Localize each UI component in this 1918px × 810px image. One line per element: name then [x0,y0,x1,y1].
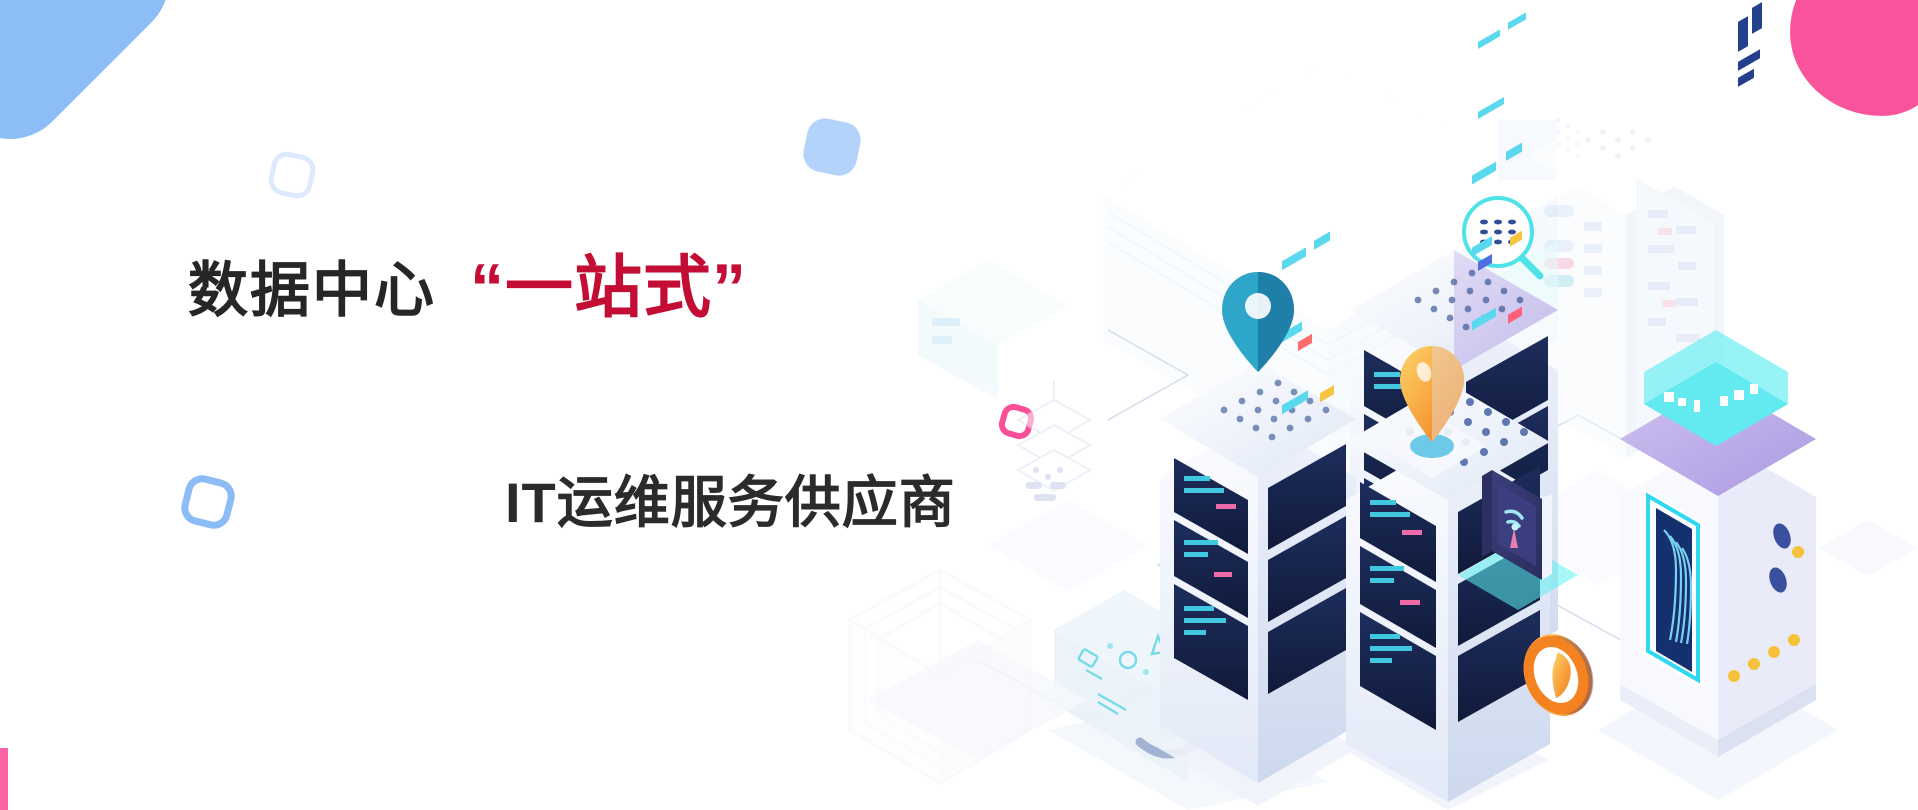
server-rack-front-left [1158,231,1358,806]
bar-bottom-left [0,748,8,810]
headline-accent: “一站式” [470,232,747,331]
server-rack-front-right [1346,143,1550,810]
location-pin-icon [1378,346,1486,478]
headline: 数据中心 “一站式” [188,232,747,331]
subheadline: IT运维服务供应商 [505,458,956,539]
watermark-cube-icon [845,565,1035,790]
monitor-right [1278,552,1478,748]
blob-top-right [1790,0,1918,116]
square-outline-blue [178,472,239,533]
hero-banner: 数据中心 “一站式” IT运维服务供应商 [0,0,1918,810]
square-outline-pink [996,401,1037,442]
connector-lines [978,330,1758,720]
server-rack-back-center [1350,0,1558,742]
square-outline-blue-pale [266,149,318,201]
server-rack-faded-right [1500,100,1724,585]
headline-primary: 数据中心 [188,242,436,329]
smartphone-wifi-icon [1458,470,1578,610]
monitor-faded-topleft [918,260,1068,400]
dotted-panel-decor [1556,118,1580,158]
monitor-left [1048,590,1328,810]
data-scan-icon [1464,198,1540,276]
faded-building-tower [1103,60,1558,470]
square-filled-blue [800,115,864,179]
blob-top-left [0,0,194,164]
orange-spiral-coin-icon [1512,624,1605,727]
server-pin-icon [1222,272,1294,372]
fingerprint-scanner-kiosk [1598,2,1838,800]
